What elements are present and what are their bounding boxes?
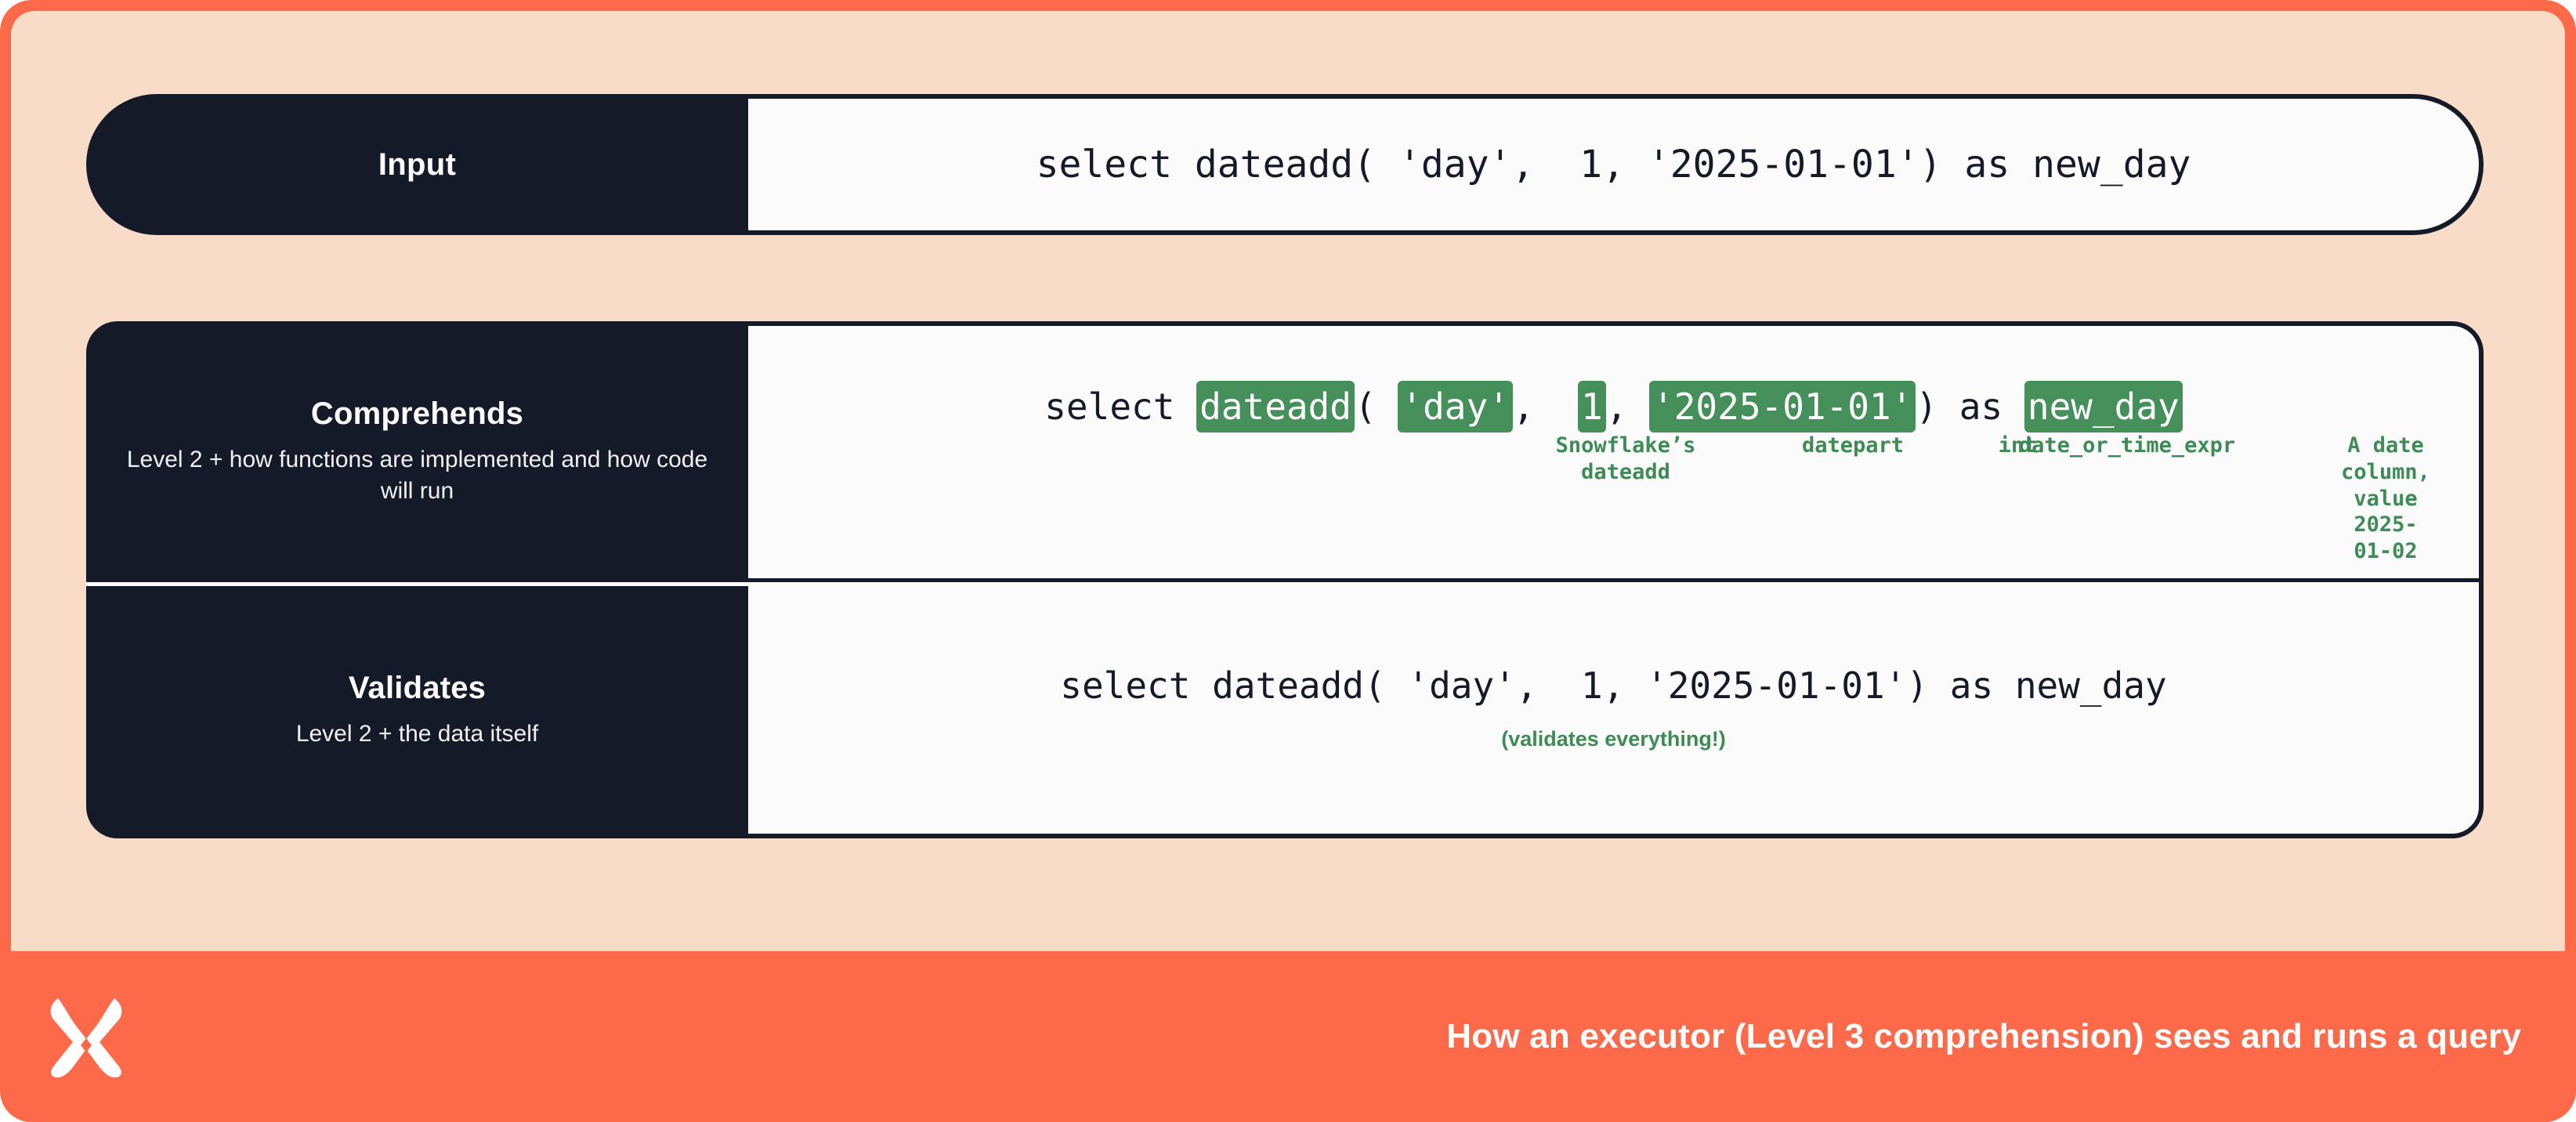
code-token: (	[1355, 385, 1398, 428]
code-token: select	[1044, 385, 1196, 428]
row-validates-code: select dateadd( 'day', 1, '2025-01-01') …	[1060, 664, 2166, 707]
row-divider-gap	[86, 582, 748, 586]
row-validates-label: Validates Level 2 + the data itself	[86, 582, 748, 838]
row-validates-content: select dateadd( 'day', 1, '2025-01-01') …	[748, 582, 2484, 838]
code-token-highlighted: 1	[1578, 381, 1606, 433]
code-token-highlighted: '2025-01-01'	[1649, 381, 1916, 433]
code-annotation: Snowflake’s dateadd	[1556, 433, 1696, 486]
code-token-highlighted: 'day'	[1398, 381, 1512, 433]
code-token: ) as	[1916, 385, 2024, 428]
input-row-label: Input	[86, 94, 748, 235]
row-comprehends-code: select dateadd( 'day', 1, '2025-01-01') …	[1044, 385, 2183, 428]
input-row-code-panel: select dateadd( 'day', 1, '2025-01-01') …	[748, 94, 2484, 235]
row-comprehends-annotations: Snowflake’s dateadddatepartintdate_or_ti…	[748, 433, 2479, 519]
row-comprehends-subtitle: Level 2 + how functions are implemented …	[113, 444, 722, 506]
butterfly-x-logo	[47, 994, 125, 1080]
code-token-highlighted: dateadd	[1196, 381, 1355, 433]
row-validates-title: Validates	[349, 671, 486, 706]
code-annotation: date_or_time_expr	[2019, 433, 2235, 459]
outer-frame: Input select dateadd( 'day', 1, '2025-01…	[0, 0, 2576, 1122]
code-token-highlighted: new_day	[2024, 381, 2183, 433]
code-annotation: A date column, value 2025-01-02	[2339, 433, 2433, 565]
row-validates-note: (validates everything!)	[1501, 727, 1726, 751]
row-comprehends-content: select dateadd( 'day', 1, '2025-01-01') …	[748, 321, 2484, 582]
input-row: Input select dateadd( 'day', 1, '2025-01…	[86, 94, 2484, 235]
row-validates-subtitle: Level 2 + the data itself	[296, 718, 538, 750]
footer-caption: How an executor (Level 3 comprehension) …	[125, 1017, 2521, 1056]
code-token: ,	[1606, 385, 1649, 428]
code-annotation: datepart	[1802, 433, 1904, 459]
levels-card: Comprehends Level 2 + how functions are …	[86, 321, 2484, 838]
code-token: ,	[1513, 385, 1578, 428]
row-validates: Validates Level 2 + the data itself sele…	[86, 582, 2484, 838]
footer-bar: How an executor (Level 3 comprehension) …	[0, 951, 2576, 1122]
row-comprehends: Comprehends Level 2 + how functions are …	[86, 321, 2484, 582]
row-comprehends-title: Comprehends	[311, 396, 523, 432]
input-row-code: select dateadd( 'day', 1, '2025-01-01') …	[1037, 143, 2191, 186]
row-comprehends-label: Comprehends Level 2 + how functions are …	[86, 321, 748, 582]
